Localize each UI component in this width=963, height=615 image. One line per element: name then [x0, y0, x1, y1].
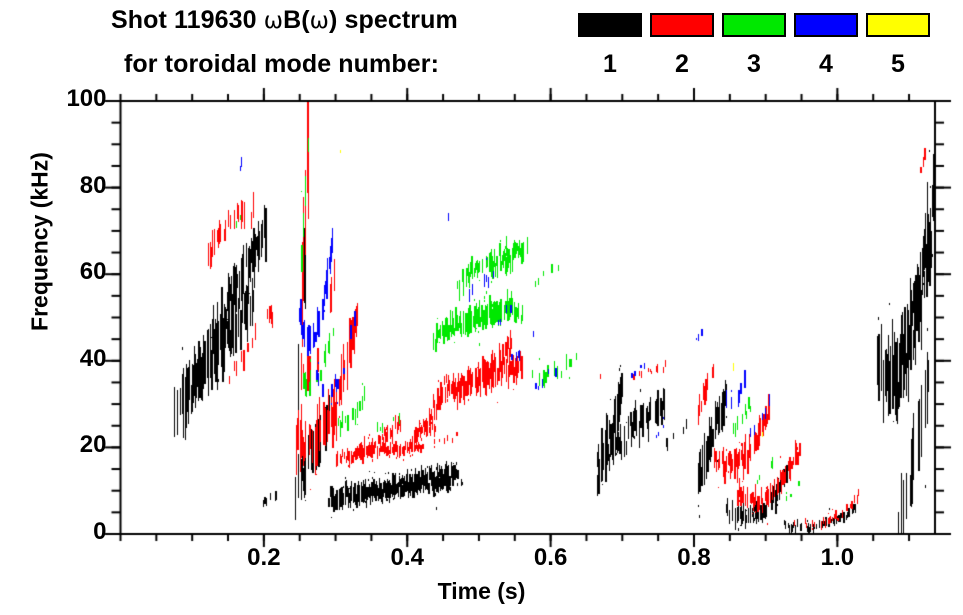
y-tick-label-40: 40 — [37, 345, 107, 373]
x-axis-label: Time (s) — [0, 578, 963, 605]
x-tick-label-0.4: 0.4 — [372, 544, 442, 572]
y-tick-label-20: 20 — [37, 431, 107, 459]
y-tick-label-60: 60 — [37, 258, 107, 286]
x-tick-label-1.0: 1.0 — [802, 544, 872, 572]
x-tick-label-0.2: 0.2 — [229, 544, 299, 572]
spectrogram-plot-area[interactable] — [0, 0, 963, 615]
x-tick-label-0.8: 0.8 — [659, 544, 729, 572]
x-tick-label-0.6: 0.6 — [516, 544, 586, 572]
y-axis-label: Frequency (kHz) — [27, 132, 54, 352]
spectrogram-figure: Shot 119630 ωB(ω) spectrum for toroidal … — [0, 0, 963, 615]
y-tick-label-80: 80 — [37, 172, 107, 200]
y-tick-label-0: 0 — [37, 518, 107, 546]
y-tick-label-100: 100 — [37, 85, 107, 113]
